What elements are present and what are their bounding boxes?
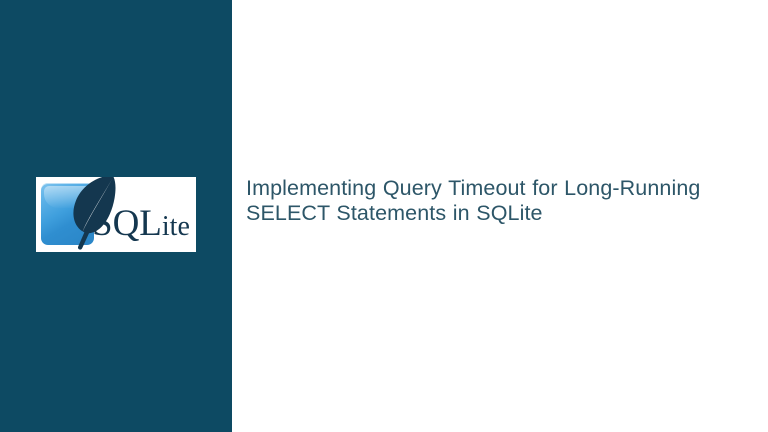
sqlite-logo: SQLite — [36, 177, 196, 252]
sqlite-wordmark-suffix: ite — [162, 211, 190, 242]
sqlite-logo-inner: SQLite — [36, 177, 196, 252]
sqlite-wordmark: SQLite — [92, 203, 190, 248]
sqlite-wordmark-initials: SQL — [92, 203, 162, 244]
slide-canvas: SQLite Implementing Query Timeout for Lo… — [0, 0, 768, 432]
slide-title: Implementing Query Timeout for Long-Runn… — [246, 176, 758, 226]
